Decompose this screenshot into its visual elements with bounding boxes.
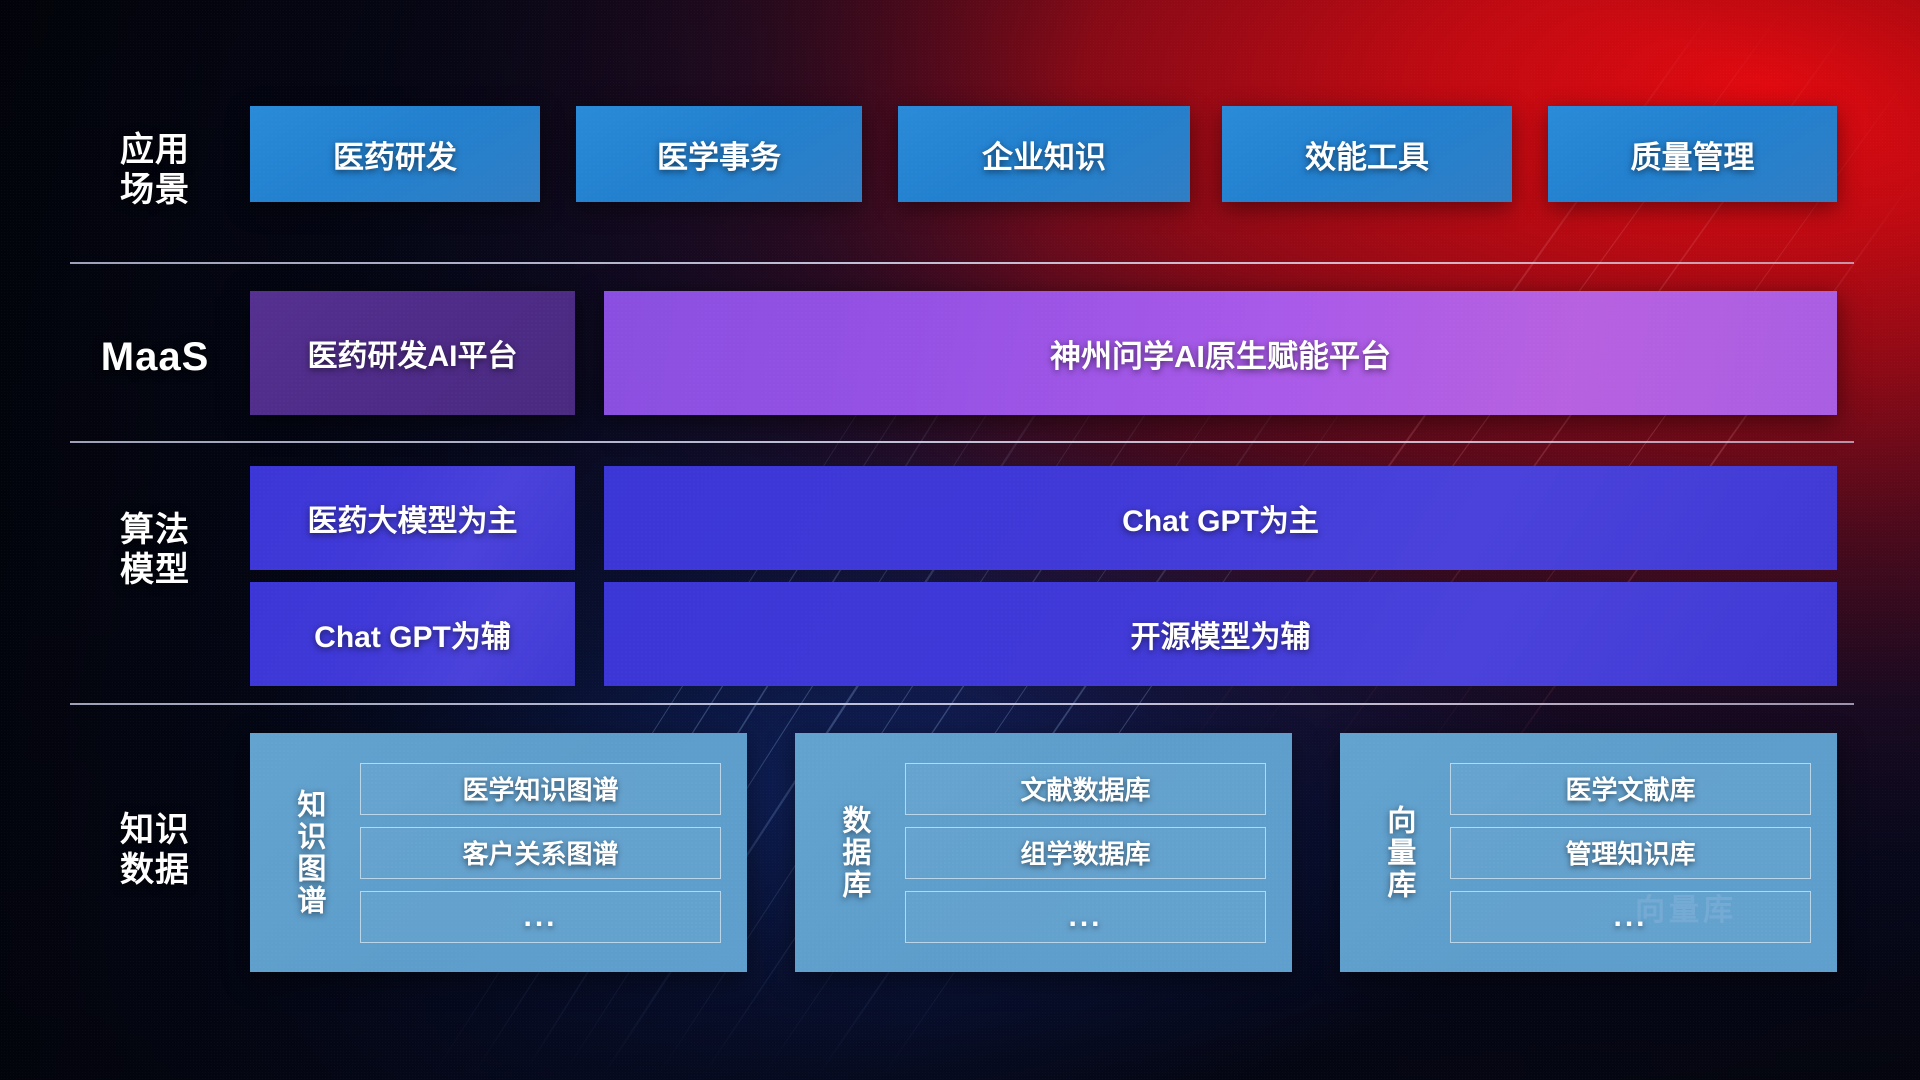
row-label-application: 应用 场景: [70, 130, 240, 210]
algo-cell-secondary-left[interactable]: Chat GPT为辅: [250, 582, 575, 686]
divider-2: [70, 441, 1854, 443]
app-cell-2[interactable]: 企业知识: [898, 106, 1190, 202]
knowledge-item[interactable]: 组学数据库: [905, 827, 1266, 879]
app-cell-4[interactable]: 质量管理: [1548, 106, 1837, 202]
knowledge-item[interactable]: 文献数据库: [905, 763, 1266, 815]
knowledge-item-more[interactable]: ...: [360, 891, 721, 943]
knowledge-group-graph-title: 知识图谱: [278, 789, 338, 917]
knowledge-group-database[interactable]: 数据库 文献数据库 组学数据库 ...: [795, 733, 1292, 972]
row-label-knowledge: 知识 数据: [70, 810, 240, 890]
divider-1: [70, 262, 1854, 264]
app-cell-1[interactable]: 医学事务: [576, 106, 862, 202]
maas-platform-right[interactable]: 神州问学AI原生赋能平台: [604, 291, 1837, 415]
row-label-algorithm: 算法 模型: [70, 510, 240, 590]
knowledge-item[interactable]: 医学知识图谱: [360, 763, 721, 815]
app-cell-3[interactable]: 效能工具: [1222, 106, 1512, 202]
knowledge-group-vector[interactable]: 向量库 医学文献库 管理知识库 ... 向量库: [1340, 733, 1837, 972]
diagram-canvas: 应用 场景 医药研发 医学事务 企业知识 效能工具 质量管理 MaaS 医药研发…: [0, 0, 1920, 1080]
knowledge-item-more[interactable]: ...: [905, 891, 1266, 943]
knowledge-item[interactable]: 客户关系图谱: [360, 827, 721, 879]
architecture-layers: 应用 场景 医药研发 医学事务 企业知识 效能工具 质量管理 MaaS 医药研发…: [0, 0, 1920, 1080]
algo-cell-secondary-right[interactable]: 开源模型为辅: [604, 582, 1837, 686]
knowledge-item-more[interactable]: ...: [1450, 891, 1811, 943]
algo-cell-primary-left[interactable]: 医药大模型为主: [250, 466, 575, 570]
app-cell-0[interactable]: 医药研发: [250, 106, 540, 202]
algo-cell-primary-right[interactable]: Chat GPT为主: [604, 466, 1837, 570]
knowledge-group-vector-title: 向量库: [1368, 805, 1428, 901]
knowledge-group-graph-items: 医学知识图谱 客户关系图谱 ...: [360, 763, 721, 943]
knowledge-group-database-title: 数据库: [823, 805, 883, 901]
knowledge-item[interactable]: 管理知识库: [1450, 827, 1811, 879]
knowledge-group-database-items: 文献数据库 组学数据库 ...: [905, 763, 1266, 943]
knowledge-item[interactable]: 医学文献库: [1450, 763, 1811, 815]
knowledge-group-graph[interactable]: 知识图谱 医学知识图谱 客户关系图谱 ...: [250, 733, 747, 972]
maas-platform-left[interactable]: 医药研发AI平台: [250, 291, 575, 415]
divider-3: [70, 703, 1854, 705]
row-label-maas: MaaS: [70, 334, 240, 381]
knowledge-group-vector-items: 医学文献库 管理知识库 ...: [1450, 763, 1811, 943]
